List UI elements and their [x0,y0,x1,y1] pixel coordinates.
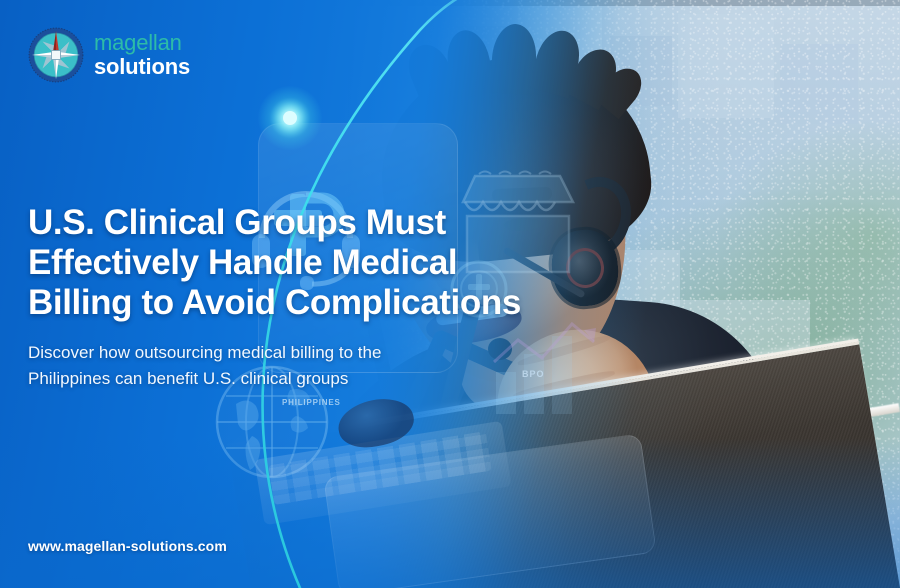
website-url[interactable]: www.magellan-solutions.com [28,538,227,554]
page-title: U.S. Clinical Groups Must Effectively Ha… [28,203,628,323]
subheadline-line-1: Discover how outsourcing medical billing… [28,340,548,366]
brand-name-solutions: solutions [94,56,190,78]
brand-wordmark: magellan solutions [94,32,190,78]
headline-line-3: Billing to Avoid Complications [28,283,628,323]
compass-rose-icon [28,27,84,83]
page-subtitle: Discover how outsourcing medical billing… [28,340,548,392]
brand-logo[interactable]: magellan solutions [28,27,190,83]
headline-line-1: U.S. Clinical Groups Must [28,203,628,243]
brand-name-magellan: magellan [94,32,190,54]
marketing-banner: PHILIPPINES BPO [0,0,900,588]
globe-philippines-label: PHILIPPINES [282,398,341,407]
bottom-blue-fade [0,438,900,588]
headline-line-2: Effectively Handle Medical [28,243,628,283]
subheadline-line-2: Philippines can benefit U.S. clinical gr… [28,366,548,392]
